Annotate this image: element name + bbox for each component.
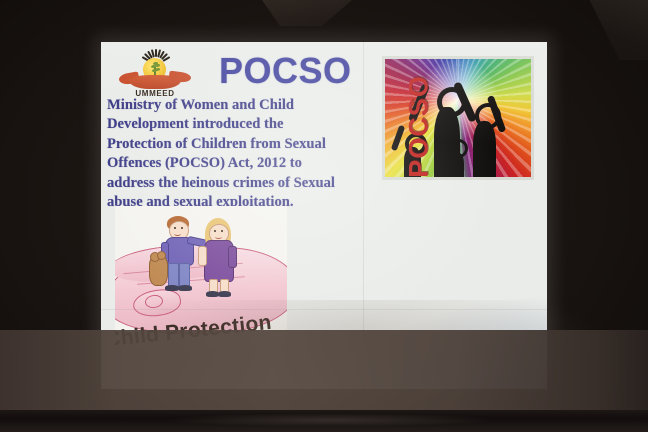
ummeed-logo: UMMEED: [117, 47, 193, 103]
boy-figure: [161, 216, 203, 294]
body-line: Ministry of Women and Child: [107, 96, 375, 115]
body-line: Development introduced the: [107, 115, 375, 134]
girl-figure: [201, 218, 245, 296]
slide-body-text: Ministry of Women and Child Development …: [107, 96, 375, 212]
body-line: Offences (POCSO) Act, 2012 to: [107, 154, 375, 173]
pocso-logo-vertical-text: POCSO: [404, 67, 435, 178]
slide-title: POCSO: [219, 50, 352, 92]
cradling-hand-icon: [119, 71, 191, 91]
lower-wall: [0, 330, 648, 412]
body-line: address the heinous crimes of Sexual: [107, 174, 375, 193]
room-photograph: UMMEED POCSO Ministry of Women and Child…: [0, 0, 648, 432]
pocso-logo-image: POCSO: [382, 56, 534, 180]
body-line: Protection of Children from Sexual: [107, 135, 375, 154]
floor-reflection: [120, 412, 540, 428]
